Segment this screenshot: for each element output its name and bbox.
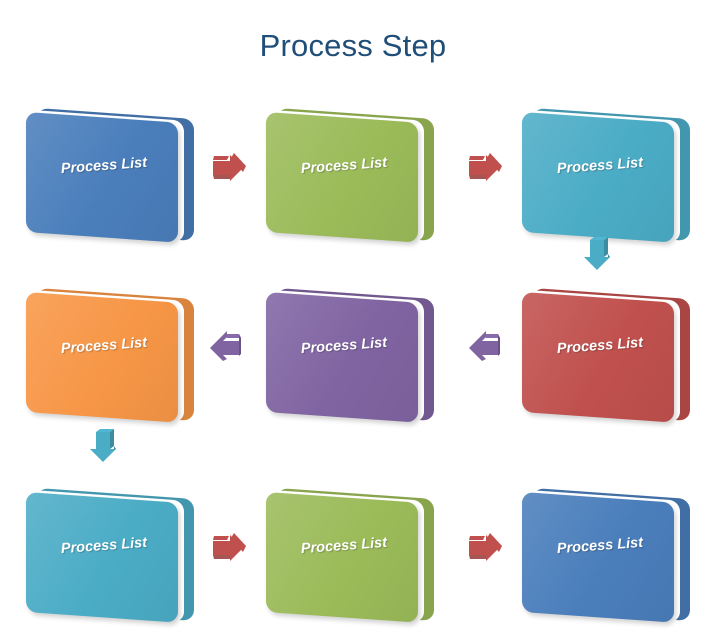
arrow-down-icon bbox=[80, 424, 126, 470]
process-step-diagram: Process Step Process ListProcess ListPro… bbox=[0, 0, 706, 637]
process-box-front-face bbox=[522, 112, 674, 243]
process-box-front-face bbox=[266, 292, 418, 423]
arrow-down-icon bbox=[574, 232, 620, 278]
process-box-front-face bbox=[522, 492, 674, 623]
process-box-stage: Process List bbox=[264, 486, 436, 616]
process-box-r1c3[interactable]: Process List bbox=[520, 106, 692, 236]
process-box-stage: Process List bbox=[264, 286, 436, 416]
process-box-stage: Process List bbox=[24, 106, 196, 236]
process-box-stage: Process List bbox=[520, 286, 692, 416]
page-title: Process Step bbox=[0, 28, 706, 64]
process-box-stage: Process List bbox=[264, 106, 436, 236]
process-box-r3c2[interactable]: Process List bbox=[264, 486, 436, 616]
process-box-r3c3[interactable]: Process List bbox=[520, 486, 692, 616]
process-box-front-face bbox=[266, 112, 418, 243]
process-box-r3c1[interactable]: Process List bbox=[24, 486, 196, 616]
process-box-r2c2[interactable]: Process List bbox=[264, 286, 436, 416]
process-box-stage: Process List bbox=[24, 486, 196, 616]
process-box-stage: Process List bbox=[520, 106, 692, 236]
process-box-front-face bbox=[26, 112, 178, 243]
arrow-left-icon bbox=[202, 325, 248, 371]
arrow-right-icon bbox=[461, 525, 507, 571]
arrow-left-icon bbox=[461, 325, 507, 371]
process-box-front-face bbox=[26, 492, 178, 623]
process-box-front-face bbox=[26, 292, 178, 423]
arrow-right-icon bbox=[205, 525, 251, 571]
process-box-r1c1[interactable]: Process List bbox=[24, 106, 196, 236]
process-box-r2c1[interactable]: Process List bbox=[24, 286, 196, 416]
process-box-stage: Process List bbox=[24, 286, 196, 416]
process-box-front-face bbox=[266, 492, 418, 623]
arrow-right-icon bbox=[205, 145, 251, 191]
process-box-r1c2[interactable]: Process List bbox=[264, 106, 436, 236]
arrow-right-icon bbox=[461, 145, 507, 191]
process-box-r2c3[interactable]: Process List bbox=[520, 286, 692, 416]
process-box-front-face bbox=[522, 292, 674, 423]
process-box-stage: Process List bbox=[520, 486, 692, 616]
